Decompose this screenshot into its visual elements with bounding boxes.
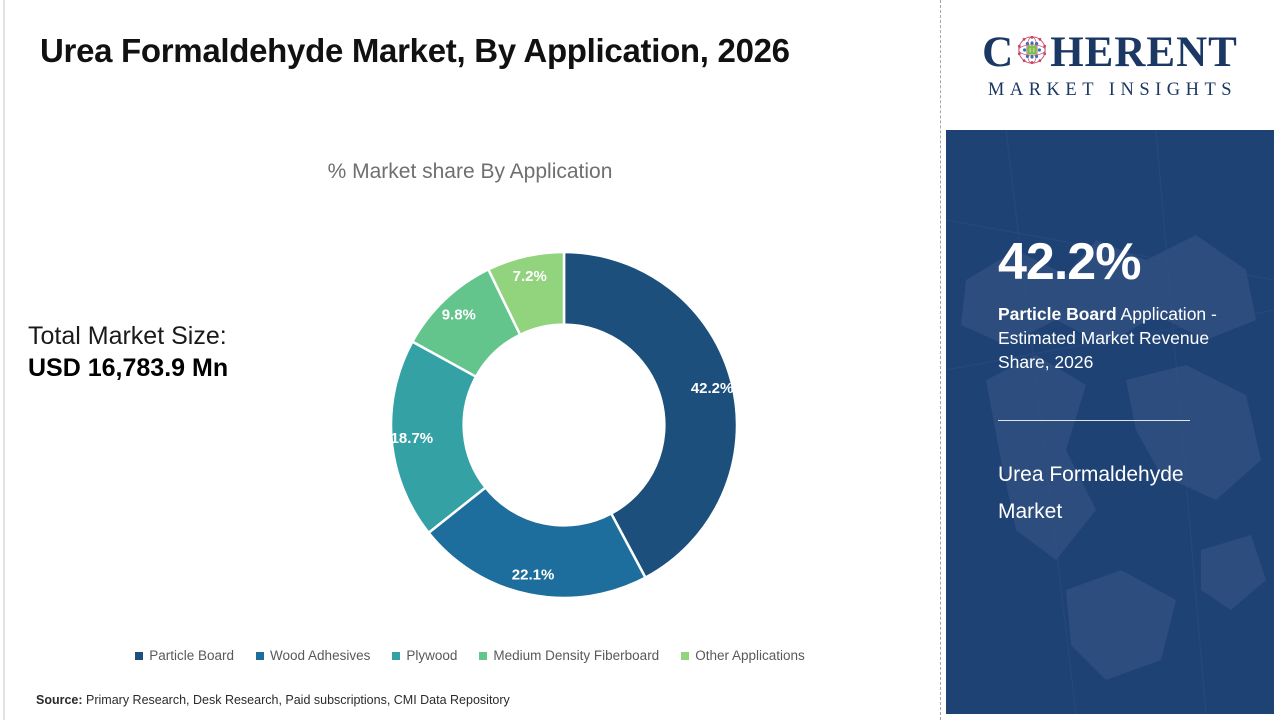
donut-slice-group [391, 252, 737, 598]
stat-divider [998, 420, 1190, 421]
legend-item[interactable]: Other Applications [681, 648, 805, 663]
main-content-area: Urea Formaldehyde Market, By Application… [0, 0, 940, 720]
logo-letters-herent: HERENT [1050, 31, 1238, 74]
legend-label: Medium Density Fiberboard [493, 648, 659, 663]
source-note: Source: Primary Research, Desk Research,… [36, 693, 510, 707]
legend-item[interactable]: Particle Board [135, 648, 234, 663]
donut-chart: 42.2%22.1%18.7%9.8%7.2% [380, 226, 748, 624]
legend-swatch-icon [681, 652, 689, 660]
total-market-size-block: Total Market Size: USD 16,783.9 Mn [28, 320, 328, 384]
logo-letter-c: C [982, 31, 1014, 74]
highlight-stat-panel: 42.2% Particle Board Application - Estim… [946, 130, 1274, 714]
legend-label: Other Applications [695, 648, 805, 663]
source-value: Primary Research, Desk Research, Paid su… [83, 693, 510, 707]
legend-swatch-icon [135, 652, 143, 660]
page-title: Urea Formaldehyde Market, By Application… [40, 32, 920, 70]
donut-data-label: 9.8% [442, 306, 476, 323]
left-edge-divider [3, 0, 5, 720]
legend-label: Plywood [406, 648, 457, 663]
source-label: Source: [36, 693, 83, 707]
stat-percentage-value: 42.2% [998, 236, 1274, 288]
chart-subtitle: % Market share By Application [0, 160, 940, 184]
logo-wordmark: C [982, 30, 1238, 76]
total-market-size-value: USD 16,783.9 Mn [28, 352, 328, 384]
legend-swatch-icon [479, 652, 487, 660]
slide-canvas: Urea Formaldehyde Market, By Application… [0, 0, 1280, 720]
donut-data-label: 42.2% [691, 380, 734, 397]
legend-label: Particle Board [149, 648, 234, 663]
logo-subtext: MARKET INSIGHTS [983, 80, 1237, 101]
legend-item[interactable]: Plywood [392, 648, 457, 663]
donut-chart-svg: 42.2%22.1%18.7%9.8%7.2% [380, 226, 748, 624]
legend-item[interactable]: Medium Density Fiberboard [479, 648, 659, 663]
legend-swatch-icon [392, 652, 400, 660]
legend-label: Wood Adhesives [270, 648, 370, 663]
highlight-stat-content: 42.2% Particle Board Application - Estim… [946, 236, 1274, 530]
chart-legend: Particle BoardWood AdhesivesPlywoodMediu… [0, 648, 940, 663]
total-market-size-label: Total Market Size: [28, 320, 328, 352]
donut-data-label: 18.7% [391, 430, 434, 447]
donut-data-label: 7.2% [513, 268, 547, 285]
donut-data-label: 22.1% [512, 566, 555, 583]
legend-item[interactable]: Wood Adhesives [256, 648, 370, 663]
globe-dots-icon [1015, 33, 1049, 72]
stat-description-emphasis: Particle Board [998, 304, 1117, 324]
legend-swatch-icon [256, 652, 264, 660]
stat-description: Particle Board Application - Estimated M… [998, 302, 1260, 374]
right-sidebar: C [940, 0, 1280, 720]
stat-market-name: Urea Formaldehyde Market [998, 457, 1248, 529]
brand-logo: C [946, 6, 1274, 124]
